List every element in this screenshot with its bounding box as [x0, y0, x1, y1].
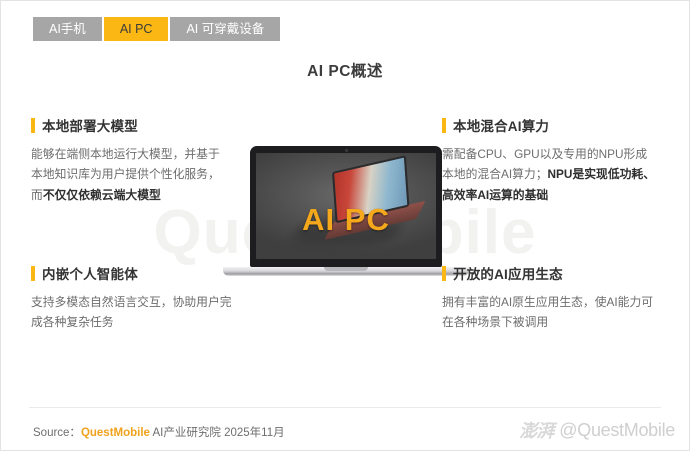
corner-watermark: 澎湃 @QuestMobile	[519, 417, 675, 443]
corner-watermark-handle: @QuestMobile	[559, 420, 675, 441]
tab-ai-wearable[interactable]: AI 可穿戴设备	[170, 17, 280, 41]
feature-heading-row: 内嵌个人智能体	[31, 263, 236, 283]
feature-block-hybrid-compute: 本地混合AI算力 需配备CPU、GPU以及专用的NPU形成本地的混合AI算力；N…	[442, 115, 657, 205]
source-suffix: AI产业研究院 2025年11月	[150, 427, 285, 439]
slide-page: QuestMobile AI手机 AI PC AI 可穿戴设备 AI PC概述 …	[0, 0, 690, 451]
feature-body-open-ecosystem: 拥有丰富的AI原生应用生态，使AI能力可在各种场景下被调用	[442, 292, 660, 333]
feature-heading-row: 开放的AI应用生态	[442, 263, 660, 283]
feature-heading-row: 本地部署大模型	[31, 115, 231, 135]
feature-block-local-model: 本地部署大模型 能够在端侧本地运行大模型，并基于本地知识库为用户提供个性化服务，…	[31, 115, 231, 205]
feature-body-text: 拥有丰富的AI原生应用生态，使AI能力可在各种场景下被调用	[442, 295, 653, 329]
bullet-bar-icon	[442, 266, 446, 281]
feature-heading-embedded-agent: 内嵌个人智能体	[42, 263, 138, 283]
feature-body-embedded-agent: 支持多模态自然语言交互，协助用户完成各种复杂任务	[31, 292, 236, 333]
category-tabbar: AI手机 AI PC AI 可穿戴设备	[33, 17, 280, 41]
bullet-bar-icon	[31, 266, 35, 281]
bullet-bar-icon	[31, 118, 35, 133]
laptop-screen: AI PC	[256, 153, 436, 259]
page-title: AI PC概述	[1, 59, 689, 81]
paper-logo-icon: 澎湃	[519, 417, 553, 443]
tab-ai-phone[interactable]: AI手机	[33, 17, 102, 41]
laptop-illustration: AI PC	[223, 146, 469, 286]
feature-body-text: 支持多模态自然语言交互，协助用户完成各种复杂任务	[31, 295, 232, 329]
feature-heading-open-ecosystem: 开放的AI应用生态	[453, 263, 563, 283]
tab-ai-phone-label: AI手机	[49, 22, 86, 36]
feature-heading-row: 本地混合AI算力	[442, 115, 657, 135]
laptop-base	[223, 267, 469, 276]
tab-ai-pc[interactable]: AI PC	[104, 17, 169, 41]
laptop-notch	[324, 267, 368, 271]
source-prefix: Source：	[33, 427, 81, 439]
feature-body-local-model: 能够在端侧本地运行大模型，并基于本地知识库为用户提供个性化服务，而不仅仅依赖云端…	[31, 144, 231, 205]
feature-heading-hybrid-compute: 本地混合AI算力	[453, 115, 549, 135]
feature-block-open-ecosystem: 开放的AI应用生态 拥有丰富的AI原生应用生态，使AI能力可在各种场景下被调用	[442, 263, 660, 333]
feature-body-hybrid-compute: 需配备CPU、GPU以及专用的NPU形成本地的混合AI算力；NPU是实现低功耗、…	[442, 144, 657, 205]
feature-heading-local-model: 本地部署大模型	[42, 115, 138, 135]
footer-divider	[29, 407, 661, 408]
tab-ai-wearable-label: AI 可穿戴设备	[186, 22, 264, 36]
laptop-camera-icon	[345, 149, 348, 152]
tab-ai-pc-label: AI PC	[120, 22, 153, 36]
feature-block-embedded-agent: 内嵌个人智能体 支持多模态自然语言交互，协助用户完成各种复杂任务	[31, 263, 236, 333]
source-brand: QuestMobile	[81, 427, 150, 439]
feature-body-emphasis: 不仅仅依赖云端大模型	[43, 188, 161, 202]
screen-label-ai-pc: AI PC	[256, 202, 436, 238]
laptop-lid: AI PC	[250, 146, 442, 267]
source-line: Source：QuestMobile AI产业研究院 2025年11月	[33, 424, 285, 440]
bullet-bar-icon	[442, 118, 446, 133]
